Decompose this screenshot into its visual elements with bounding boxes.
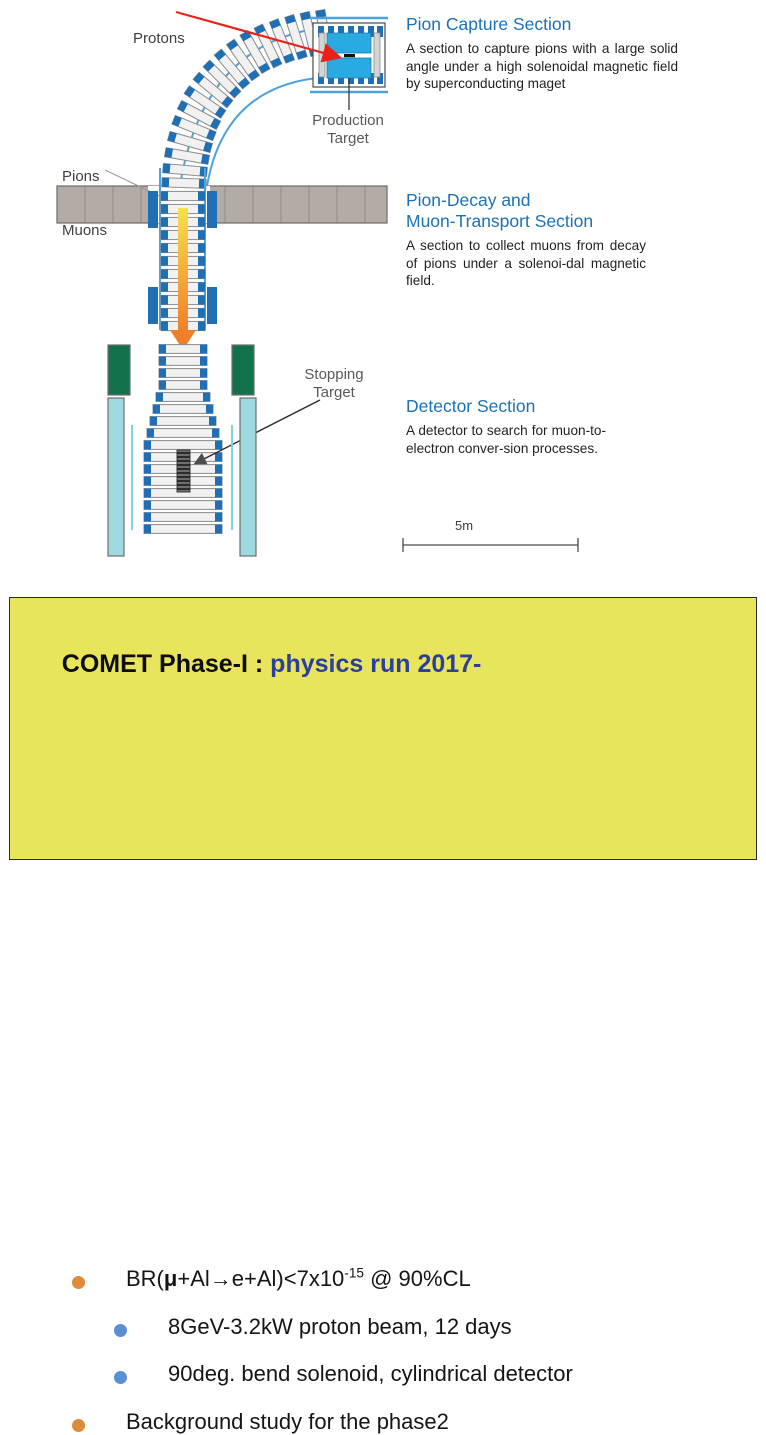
br-prefix: BR( — [126, 1266, 164, 1291]
summary-title: COMET Phase-I : physics run 2017- — [34, 621, 481, 708]
bullet-text-branching-ratio: BR(μ+Al→e+Al)<7x10-15 @ 90%CL — [126, 1266, 471, 1292]
bullet-text-background-study: Background study for the phase2 — [126, 1409, 449, 1435]
detector-body: A detector to search for muon-to-electro… — [406, 422, 606, 457]
bullet-dot-icon — [114, 1324, 127, 1337]
pion-capture-title: Pion Capture Section — [406, 14, 678, 35]
bullet-item-branching-ratio: BR(μ+Al→e+Al)<7x10-15 @ 90%CL — [72, 1266, 471, 1292]
summary-title-blue: physics run 2017- — [270, 650, 481, 678]
transport-section-block: Pion-Decay and Muon-Transport Section A … — [406, 190, 646, 290]
pions-muons-label: Pions Muons — [62, 132, 107, 276]
summary-box: COMET Phase-I : physics run 2017- BR(μ+A… — [9, 597, 757, 860]
pions-label: Pions — [62, 168, 107, 186]
scale-bar — [403, 538, 578, 552]
bullet-item-background-study: Background study for the phase2 — [72, 1409, 449, 1435]
stopping-target — [177, 450, 190, 492]
detector-section-block: Detector Section A detector to search fo… — [406, 396, 606, 457]
detector-title: Detector Section — [406, 396, 606, 417]
bullet-text-proton-beam: 8GeV-3.2kW proton beam, 12 days — [168, 1314, 512, 1340]
br-mid: +Al→e+Al)<7x10 — [177, 1266, 344, 1291]
bullet-dot-icon — [72, 1276, 85, 1289]
bullet-item-proton-beam: 8GeV-3.2kW proton beam, 12 days — [114, 1314, 512, 1340]
mu-symbol: μ — [164, 1266, 177, 1291]
br-suffix: @ 90%CL — [364, 1266, 471, 1291]
br-exponent: -15 — [344, 1266, 364, 1281]
transport-body: A section to collect muons from decay of… — [406, 237, 646, 290]
protons-label: Protons — [133, 30, 185, 48]
muons-label: Muons — [62, 222, 107, 240]
pion-capture-body: A section to capture pions with a large … — [406, 40, 678, 93]
stopping-target-label: Stopping Target — [292, 366, 376, 402]
scale-bar-label: 5m — [455, 517, 473, 535]
pion-capture-assembly — [310, 18, 388, 110]
pion-capture-section-block: Pion Capture Section A section to captur… — [406, 14, 678, 93]
summary-title-black: COMET Phase-I : — [62, 650, 270, 678]
bullet-text-bend-solenoid: 90deg. bend solenoid, cylindrical detect… — [168, 1361, 573, 1387]
transport-title: Pion-Decay and Muon-Transport Section — [406, 190, 646, 232]
bullet-dot-icon — [114, 1371, 127, 1384]
bullet-item-bend-solenoid: 90deg. bend solenoid, cylindrical detect… — [114, 1361, 573, 1387]
production-target-label: Production Target — [306, 112, 390, 148]
bullet-dot-icon — [72, 1419, 85, 1432]
